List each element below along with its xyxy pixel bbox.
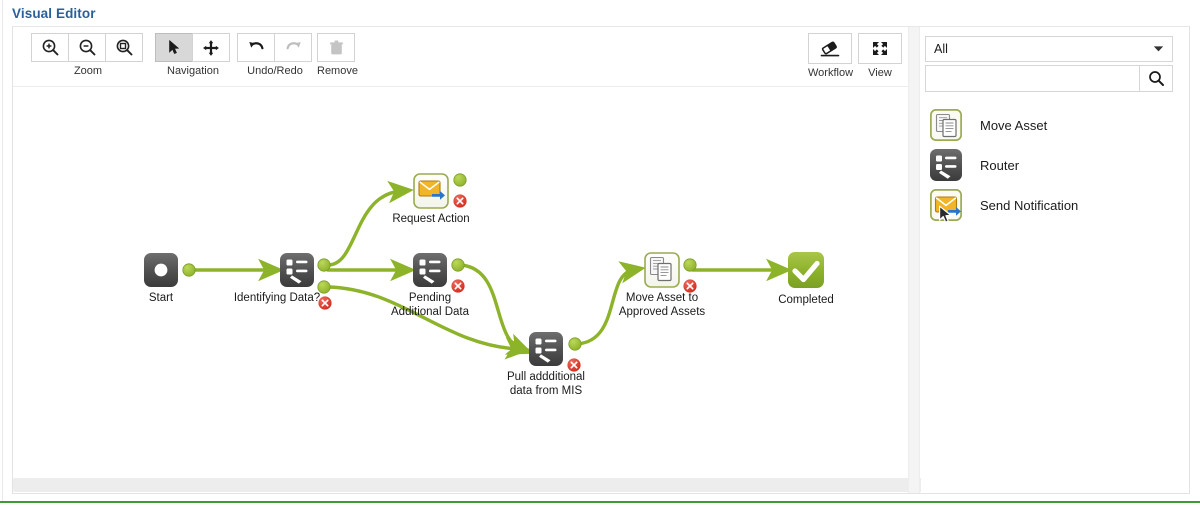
pan-tool-button[interactable] bbox=[192, 33, 230, 62]
edge-pending-to-pull bbox=[461, 265, 521, 349]
edge-pull-to-moveasset bbox=[577, 270, 633, 344]
error-badge-identify[interactable] bbox=[318, 296, 331, 309]
left-edge-rule bbox=[2, 0, 3, 502]
palette-search-row bbox=[925, 65, 1173, 92]
toolbar-group-view-label: View bbox=[858, 67, 902, 79]
select-tool-button[interactable] bbox=[155, 33, 193, 62]
search-button[interactable] bbox=[1140, 65, 1173, 92]
zoom-fit-button[interactable] bbox=[105, 33, 143, 62]
toolbar-group-navigation-label: Navigation bbox=[155, 65, 231, 77]
router-icon bbox=[930, 149, 962, 181]
error-badge-request[interactable] bbox=[453, 194, 466, 207]
toolbar-group-undo-redo-label: Undo/Redo bbox=[237, 65, 313, 77]
trash-icon bbox=[328, 39, 345, 57]
workflow-diagram bbox=[13, 87, 908, 477]
undo-button[interactable] bbox=[237, 33, 275, 62]
copy-documents-icon bbox=[930, 109, 962, 141]
move-cross-icon bbox=[202, 39, 220, 57]
eraser-icon bbox=[819, 39, 841, 59]
port-identify-out-2[interactable] bbox=[318, 281, 330, 293]
node-move-asset[interactable] bbox=[645, 253, 679, 287]
workflow-canvas[interactable]: Start Identifying Data? Request Action P… bbox=[13, 86, 908, 477]
node-completed[interactable] bbox=[788, 252, 824, 288]
toolbar-group-undo-redo: Undo/Redo bbox=[237, 33, 313, 77]
toolbar-group-remove-label: Remove bbox=[317, 65, 355, 77]
page-title: Visual Editor bbox=[12, 6, 96, 21]
envelope-send-icon bbox=[930, 189, 962, 221]
toolbar-group-remove: Remove bbox=[317, 33, 355, 77]
node-request-action[interactable] bbox=[414, 174, 448, 208]
workflow-button[interactable] bbox=[808, 33, 852, 64]
visual-editor-app: Visual Editor bbox=[0, 0, 1200, 508]
node-pull-data[interactable] bbox=[529, 332, 563, 366]
palette-item-router[interactable]: Router bbox=[925, 145, 1173, 185]
toolbar-group-workflow: Workflow bbox=[808, 33, 852, 79]
editor-toolbar: Zoom bbox=[13, 27, 908, 85]
panel-splitter[interactable] bbox=[908, 27, 920, 493]
search-icon bbox=[1148, 70, 1165, 87]
redo-arrow-icon bbox=[284, 39, 303, 56]
port-identify-out-1[interactable] bbox=[318, 259, 330, 271]
error-badge-pull[interactable] bbox=[567, 358, 580, 371]
toolbar-group-workflow-label: Workflow bbox=[808, 67, 852, 79]
palette-panel: All bbox=[921, 27, 1177, 493]
zoom-fit-icon bbox=[115, 38, 134, 57]
palette-item-label: Router bbox=[980, 158, 1019, 173]
toolbar-group-view: View bbox=[858, 33, 902, 79]
node-pending[interactable] bbox=[413, 253, 447, 287]
error-badge-moveasset[interactable] bbox=[683, 279, 696, 292]
edge-identify-to-request bbox=[328, 191, 401, 265]
cursor-arrow-icon bbox=[166, 39, 183, 56]
edge-identify-to-pull bbox=[328, 287, 518, 349]
palette-list: Move Asset bbox=[925, 105, 1173, 225]
palette-item-send-notification[interactable]: Send Notification bbox=[925, 185, 1173, 225]
zoom-out-button[interactable] bbox=[68, 33, 106, 62]
port-pull-out[interactable] bbox=[569, 338, 581, 350]
fullscreen-icon bbox=[870, 39, 890, 58]
view-fullscreen-button[interactable] bbox=[858, 33, 902, 64]
palette-item-label: Send Notification bbox=[980, 198, 1078, 213]
category-filter-value: All bbox=[934, 42, 948, 56]
bottom-accent-rule bbox=[0, 501, 1200, 503]
toolbar-group-navigation: Navigation bbox=[155, 33, 231, 77]
node-start[interactable] bbox=[144, 253, 178, 287]
toolbar-group-zoom: Zoom bbox=[31, 33, 145, 77]
search-input[interactable] bbox=[925, 65, 1140, 92]
toolbar-group-zoom-label: Zoom bbox=[31, 65, 145, 77]
port-moveasset-out[interactable] bbox=[684, 259, 696, 271]
error-badge-pending[interactable] bbox=[451, 279, 464, 292]
palette-item-label: Move Asset bbox=[980, 118, 1047, 133]
zoom-out-icon bbox=[78, 38, 97, 57]
palette-item-move-asset[interactable]: Move Asset bbox=[925, 105, 1173, 145]
redo-button[interactable] bbox=[274, 33, 312, 62]
zoom-in-icon bbox=[41, 38, 60, 57]
category-filter-select[interactable]: All bbox=[925, 36, 1173, 62]
zoom-in-button[interactable] bbox=[31, 33, 69, 62]
port-start-out[interactable] bbox=[183, 264, 195, 276]
chevron-down-icon bbox=[1153, 42, 1164, 56]
remove-button[interactable] bbox=[317, 33, 355, 62]
port-request-out[interactable] bbox=[454, 174, 466, 186]
port-pending-out[interactable] bbox=[452, 259, 464, 271]
undo-arrow-icon bbox=[247, 39, 266, 56]
node-identify[interactable] bbox=[280, 253, 314, 287]
